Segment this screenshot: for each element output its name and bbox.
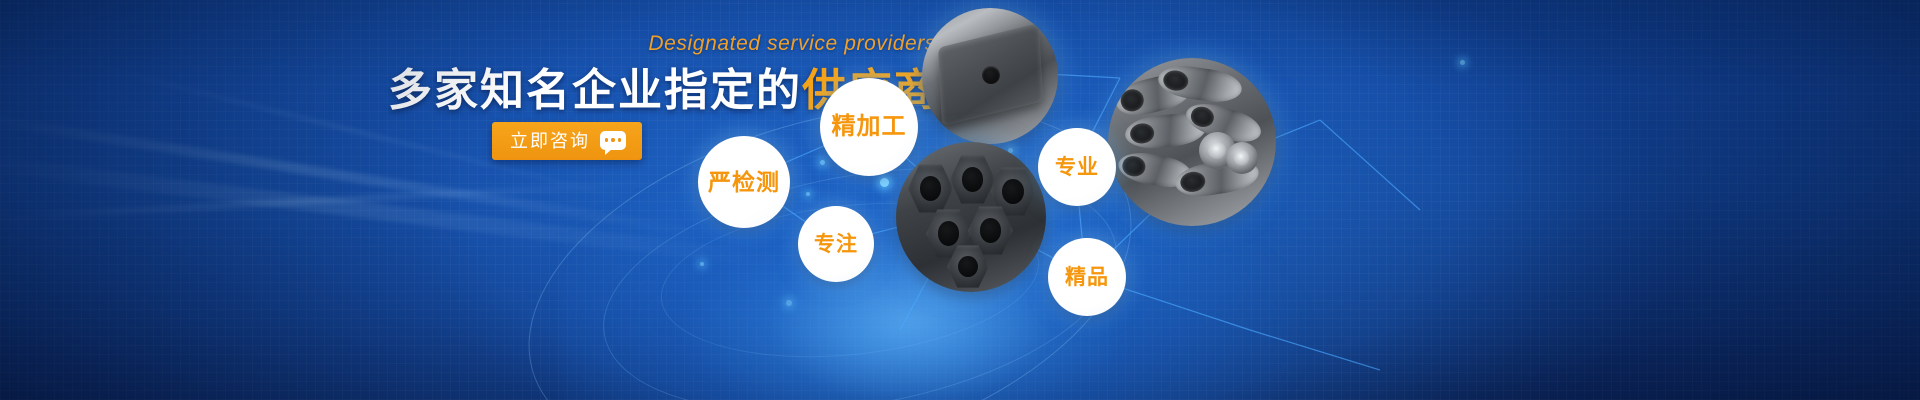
glow-particle: [880, 178, 889, 187]
eyebrow-tagline: Designated service providers: [384, 32, 944, 56]
consult-now-button[interactable]: 立即咨询: [492, 122, 642, 160]
hero-banner: Designated service providers 多家知名企业指定的供应…: [0, 0, 1920, 400]
glow-particle: [820, 160, 825, 165]
glow-particle: [700, 262, 704, 266]
glow-particle: [806, 192, 810, 196]
glow-particle: [786, 300, 792, 306]
photo-hex-tubes: [896, 142, 1046, 292]
badge-precision-machining[interactable]: 精加工: [820, 78, 918, 176]
photo-metal-plate: [922, 8, 1058, 144]
badge-precision-machining-label: 精加工: [832, 115, 907, 139]
badge-strict-testing[interactable]: 严检测: [698, 136, 790, 228]
light-ray: [0, 178, 679, 222]
badge-professional[interactable]: 专业: [1038, 128, 1116, 206]
badge-focused[interactable]: 专注: [798, 206, 874, 282]
consult-now-label: 立即咨询: [510, 132, 590, 150]
speech-bubble-icon: [600, 131, 626, 150]
badge-premium-label: 精品: [1065, 267, 1109, 288]
badge-strict-testing-label: 严检测: [708, 171, 780, 194]
light-ray: [0, 150, 795, 271]
badge-premium[interactable]: 精品: [1048, 238, 1126, 316]
photo-steel-pipes: [1108, 58, 1276, 226]
badge-professional-label: 专业: [1055, 157, 1099, 178]
glow-particle: [1460, 60, 1465, 65]
badge-focused-label: 专注: [814, 234, 858, 255]
headline-white-part: 多家知名企业指定的: [388, 66, 802, 115]
